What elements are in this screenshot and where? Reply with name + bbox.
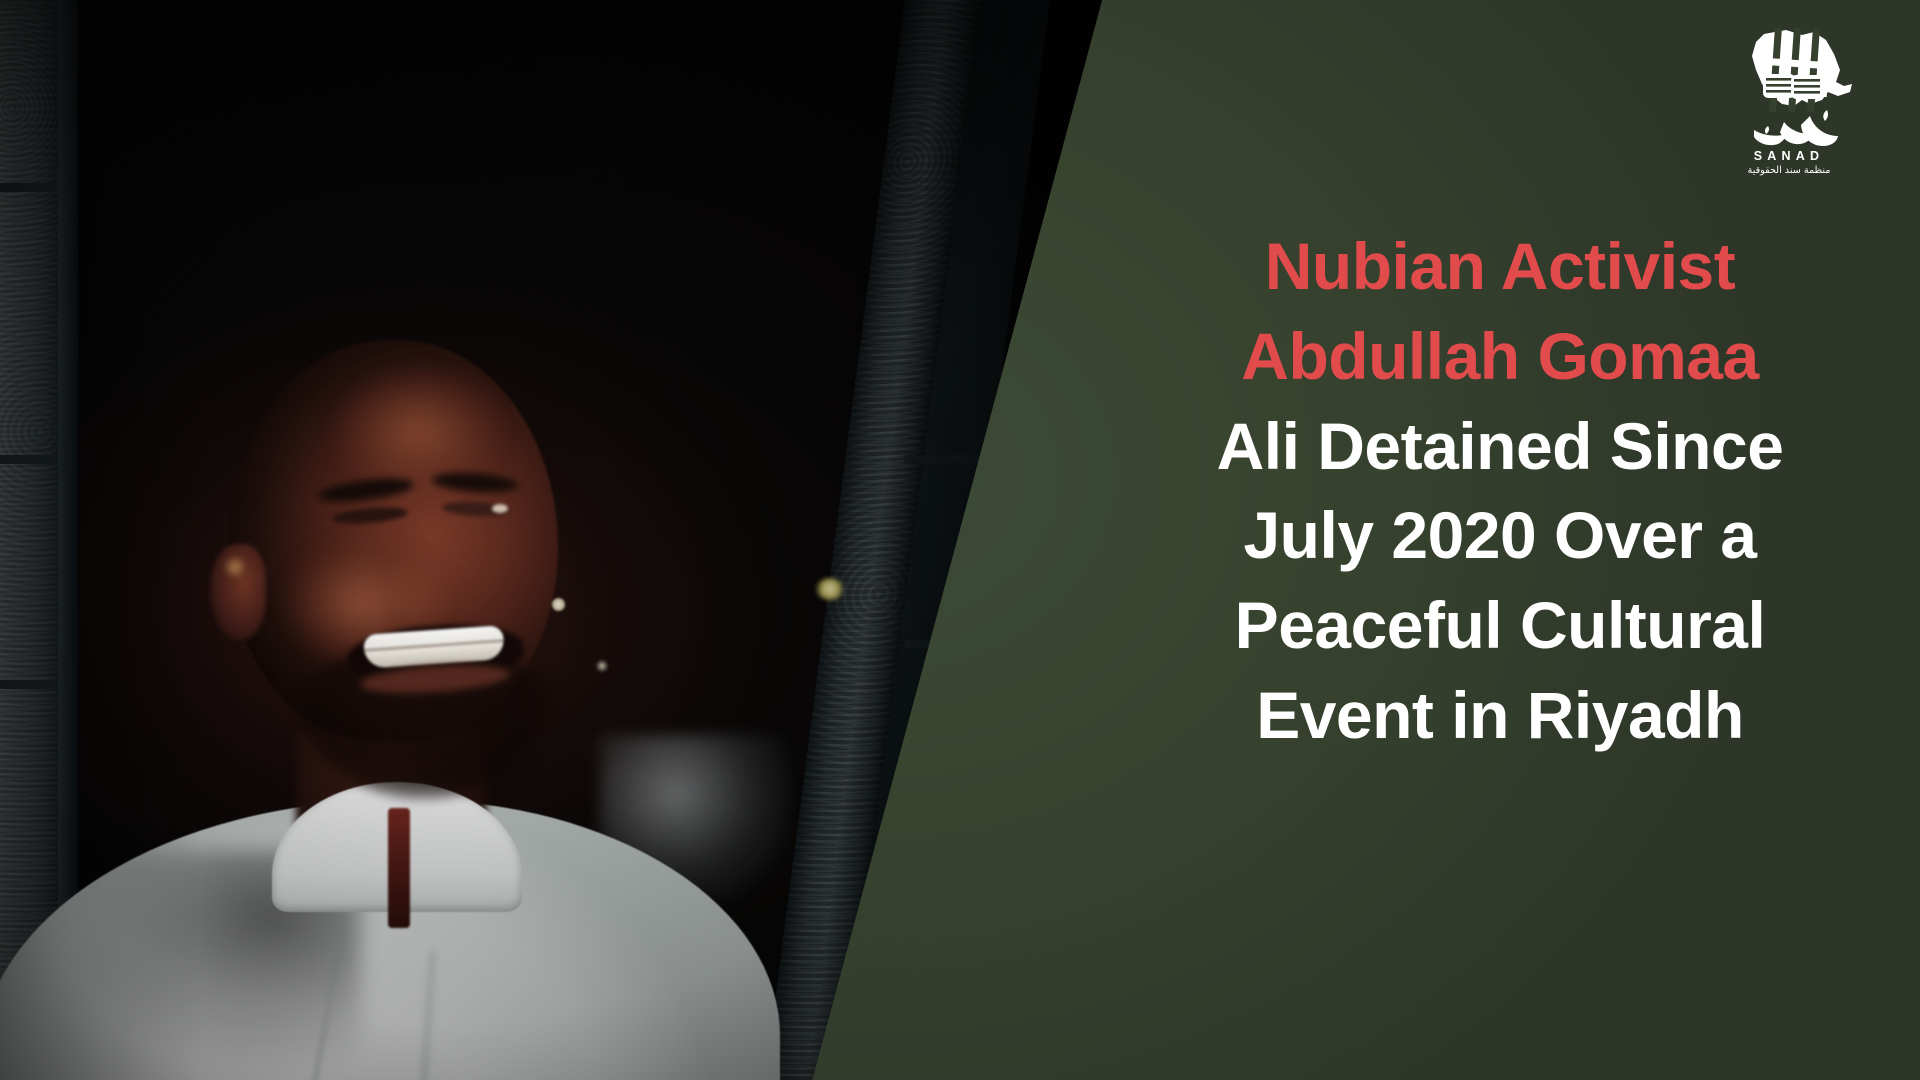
earring xyxy=(552,598,565,611)
eye-glint xyxy=(492,504,508,513)
headline-line-1: Nubian Activist xyxy=(1085,222,1915,312)
photo-subject xyxy=(120,330,680,1080)
headline-line-5: Peaceful Cultural xyxy=(1085,581,1915,671)
collar-placket xyxy=(388,808,410,928)
ear-highlight xyxy=(224,556,246,578)
headline: Nubian Activist Abdullah Gomaa Ali Detai… xyxy=(1085,222,1915,761)
poster-canvas: SANAD منظمة سند الحقوقية Nubian Activist… xyxy=(0,0,1920,1080)
sanad-logo-icon: SANAD منظمة سند الحقوقية xyxy=(1710,26,1868,176)
subject-nose xyxy=(388,548,460,628)
headline-line-3: Ali Detained Since xyxy=(1085,402,1915,492)
svg-text:منظمة سند الحقوقية: منظمة سند الحقوقية xyxy=(1748,165,1831,176)
mortar-line xyxy=(0,455,58,464)
headline-line-6: Event in Riyadh xyxy=(1085,671,1915,761)
headline-line-4: July 2020 Over a xyxy=(1085,491,1915,581)
headline-line-2: Abdullah Gomaa xyxy=(1085,312,1915,402)
mortar-line xyxy=(0,680,58,689)
sanad-logo[interactable]: SANAD منظمة سند الحقوقية xyxy=(1710,26,1868,176)
mortar-line xyxy=(904,455,983,463)
mortar-line xyxy=(0,183,58,192)
background-light-glow xyxy=(815,578,845,600)
svg-text:SANAD: SANAD xyxy=(1754,149,1824,163)
